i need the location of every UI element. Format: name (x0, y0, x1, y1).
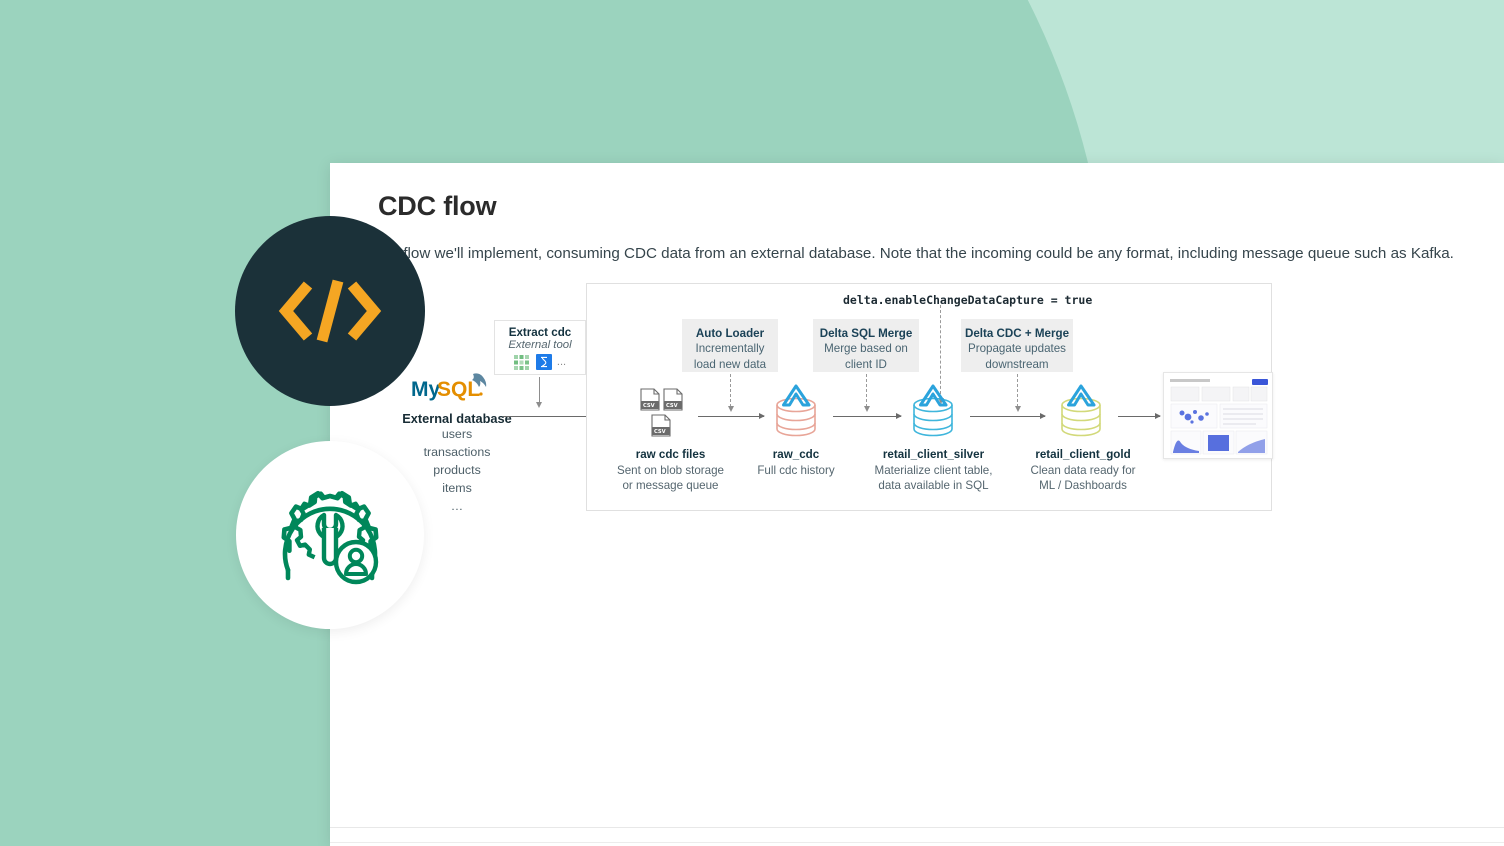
node-line1: Materialize client table, (875, 464, 993, 477)
delta-table-icon (902, 384, 964, 442)
node-caption-retail-client-gold: retail_client_gold Clean data ready for … (1008, 447, 1158, 494)
fivetran-grid-icon (514, 355, 531, 370)
code-badge (235, 216, 425, 406)
process-box-title: Auto Loader (682, 326, 778, 341)
node-line1: Full cdc history (757, 464, 834, 477)
csv-files-icon-group: CSVCSVCSV (633, 387, 703, 441)
process-box-line1: Merge based on (824, 342, 908, 355)
arrow-autoloader-down (730, 374, 731, 407)
node-name: raw_cdc (736, 447, 856, 463)
extract-more: ... (557, 356, 566, 368)
process-box-line2: downstream (985, 358, 1048, 371)
process-box-title: Delta SQL Merge (813, 326, 919, 341)
svg-text:CSV: CSV (666, 403, 678, 409)
node-line2: data available in SQL (878, 479, 988, 492)
process-box-delta-sql-merge: Delta SQL Merge Merge based on client ID (813, 319, 919, 372)
page-title: CDC flow (354, 163, 1480, 222)
process-box-line2: load new data (694, 358, 766, 371)
delta-config-label: delta.enableChangeDataCapture = true (843, 293, 1092, 307)
node-line1: Sent on blob storage (617, 464, 724, 477)
node-name: retail_client_gold (1008, 447, 1158, 463)
mysql-logo: My SQL (411, 371, 503, 405)
node-line2: or message queue (622, 479, 718, 492)
delta-table-retail-client-gold (1050, 384, 1112, 447)
dashboard-preview-icon (1168, 377, 1270, 456)
cell-divider-2 (330, 842, 1504, 843)
process-box-line1: Incrementally (696, 342, 765, 355)
node-name: raw cdc files (593, 447, 748, 463)
notebook-card: CDC flow the flow we'll implement, consu… (330, 163, 1504, 846)
node-line1: Clean data ready for (1030, 464, 1135, 477)
arrow-gold-to-dashboard (1118, 416, 1160, 417)
arrow-cdcmerge-down (1017, 374, 1018, 407)
notebook-cell-cdc-flow: CDC flow the flow we'll implement, consu… (330, 163, 1504, 539)
screenshot-root: CDC flow the flow we'll implement, consu… (0, 0, 1504, 846)
code-brackets-icon (274, 275, 386, 347)
dashboard-thumbnail (1163, 372, 1273, 459)
csv-file-icon: CSVCSVCSV (633, 387, 703, 441)
extract-subtitle: External tool (495, 339, 585, 351)
node-line2: ML / Dashboards (1039, 479, 1127, 492)
arrow-sqlmerge-down (866, 374, 867, 407)
node-caption-retail-client-silver: retail_client_silver Materialize client … (856, 447, 1011, 494)
process-box-auto-loader: Auto Loader Incrementally load new data (682, 319, 778, 372)
svg-text:SQL: SQL (437, 378, 480, 401)
process-box-delta-cdc-merge: Delta CDC + Merge Propagate updates down… (961, 319, 1073, 372)
cell-divider-1 (330, 827, 1504, 828)
arrow-rawcdc-to-silver (833, 416, 901, 417)
process-box-line1: Propagate updates (968, 342, 1066, 355)
source-table-1: transactions (382, 444, 532, 462)
extract-cdc-box: Extract cdc External tool (494, 320, 586, 375)
node-name: retail_client_silver (856, 447, 1011, 463)
process-box-title: Delta CDC + Merge (961, 326, 1073, 341)
arrow-extract-to-db (539, 377, 540, 403)
gear-wrench-person-icon (269, 474, 391, 596)
extract-title: Extract cdc (495, 326, 585, 339)
svg-text:CSV: CSV (643, 403, 655, 409)
delta-table-icon (765, 384, 827, 442)
arrow-files-to-rawcdc (698, 416, 764, 417)
node-caption-raw-cdc: raw_cdc Full cdc history (736, 447, 856, 478)
gear-person-badge (236, 441, 424, 629)
delta-table-icon (1050, 384, 1112, 442)
process-box-line2: client ID (845, 358, 887, 371)
delta-table-retail-client-silver (902, 384, 964, 447)
svg-text:CSV: CSV (654, 429, 666, 435)
blue-tool-icon (536, 354, 552, 370)
cdc-flow-diagram: My SQL External database users transacti… (378, 279, 1480, 539)
source-db-title: External database (382, 411, 532, 426)
delta-table-raw-cdc (765, 384, 827, 447)
source-table-0: users (382, 426, 532, 444)
arrow-silver-to-gold (970, 416, 1045, 417)
cdc-flow-paragraph: the flow we'll implement, consuming CDC … (354, 242, 1474, 265)
node-caption-raw-cdc-files: raw cdc files Sent on blob storage or me… (593, 447, 748, 494)
